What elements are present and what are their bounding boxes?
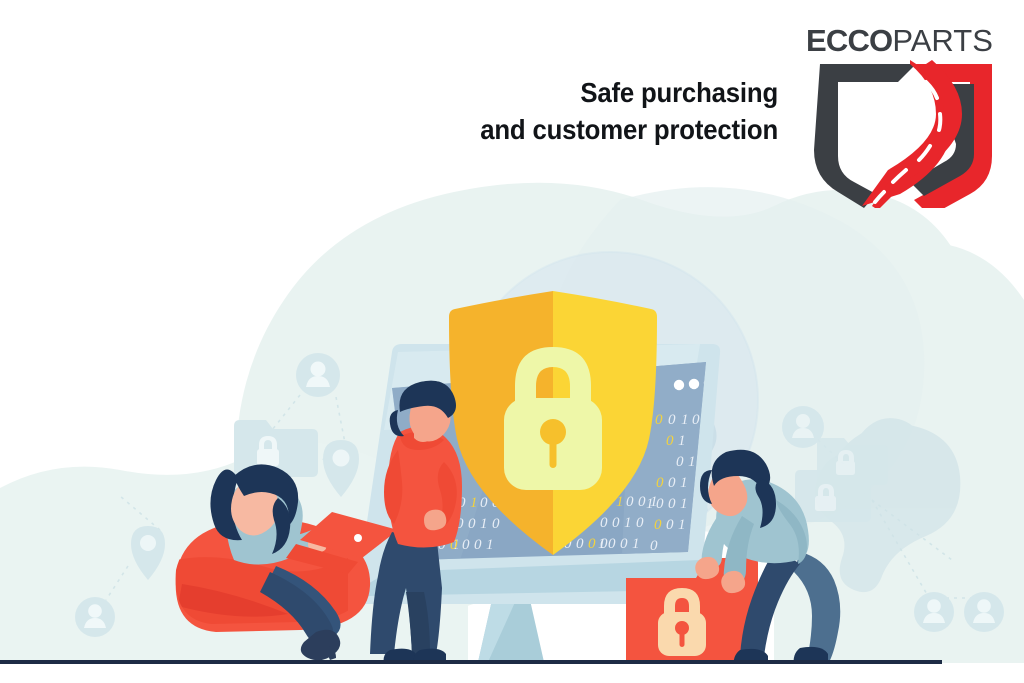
user-avatar-icon [914, 592, 954, 632]
svg-text:1: 1 [470, 495, 478, 511]
svg-text:0: 0 [608, 536, 616, 552]
svg-text:1: 1 [650, 494, 658, 510]
brand-wordmark: ECCOPARTS [806, 24, 1002, 58]
hand-on-hip [424, 510, 446, 531]
svg-text:0: 0 [612, 515, 620, 531]
padlock-keyhole-slot [550, 436, 557, 468]
lock-glyph [836, 450, 855, 475]
page-title: Safe purchasing and customer protection [392, 74, 778, 148]
svg-text:0: 0 [636, 515, 644, 531]
illustration-canvas: 0 0 1 0 1 0 1 0 1 0 0 1 1 0 [0, 0, 1024, 683]
svg-text:0: 0 [655, 412, 663, 428]
user-avatar-icon [296, 353, 340, 397]
svg-text:1: 1 [681, 412, 689, 428]
page-title-line-1: Safe purchasing [392, 74, 778, 111]
svg-text:0: 0 [474, 537, 482, 553]
floor [0, 663, 1024, 683]
svg-text:1: 1 [680, 496, 688, 512]
svg-text:1: 1 [678, 517, 686, 533]
svg-text:1: 1 [624, 515, 632, 531]
svg-text:0: 0 [576, 536, 584, 552]
svg-text:1: 1 [678, 433, 686, 449]
brand-logo[interactable]: ECCOPARTS [806, 24, 1002, 214]
svg-text:0: 0 [600, 536, 608, 552]
user-avatar-icon [75, 597, 115, 637]
svg-text:1: 1 [486, 537, 494, 553]
brand-wordmark-light: PARTS [892, 23, 993, 58]
svg-text:0: 0 [656, 475, 664, 491]
user-avatar-icon [964, 592, 1004, 632]
svg-text:0: 0 [692, 412, 700, 428]
svg-text:1: 1 [680, 475, 688, 491]
svg-text:0: 0 [588, 536, 596, 552]
svg-text:0: 0 [650, 538, 658, 554]
svg-text:0: 0 [638, 494, 646, 510]
svg-text:1: 1 [632, 536, 640, 552]
svg-text:0: 0 [462, 537, 470, 553]
svg-text:0: 0 [620, 536, 628, 552]
svg-text:0: 0 [654, 517, 662, 533]
svg-text:1: 1 [480, 516, 488, 532]
svg-text:0: 0 [666, 433, 674, 449]
svg-text:0: 0 [668, 475, 676, 491]
brand-wordmark-bold: ECCO [806, 23, 892, 58]
svg-text:0: 0 [480, 495, 488, 511]
laptop-logo [354, 534, 362, 542]
svg-text:0: 0 [468, 516, 476, 532]
svg-text:0: 0 [676, 454, 684, 470]
svg-text:1: 1 [688, 454, 696, 470]
shield-road-logo-icon [814, 58, 998, 208]
svg-text:0: 0 [626, 494, 634, 510]
svg-text:0: 0 [668, 496, 676, 512]
svg-text:0: 0 [492, 516, 500, 532]
svg-text:0: 0 [600, 515, 608, 531]
ground-line [0, 660, 942, 664]
page-title-line-2: and customer protection [392, 111, 778, 148]
svg-text:0: 0 [668, 412, 676, 428]
svg-text:0: 0 [666, 517, 674, 533]
